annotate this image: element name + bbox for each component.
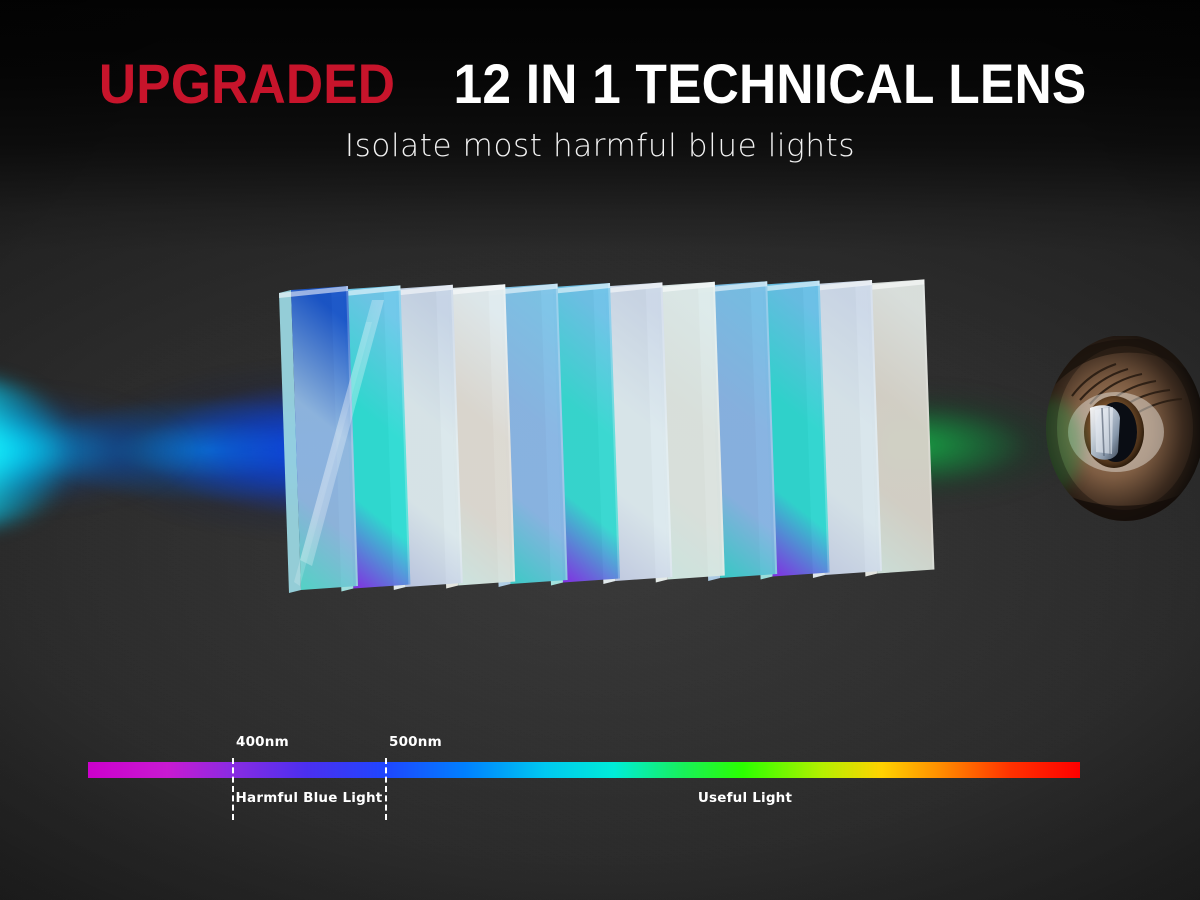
page-subtitle: Isolate most harmful blue lights — [0, 128, 1200, 164]
spectrum-band-label: Useful Light — [625, 790, 865, 806]
human-eye — [1046, 336, 1200, 522]
light-spectrum-bar — [88, 762, 1080, 778]
spectrum-band-label: Harmful Blue Light — [189, 790, 429, 806]
page-title: UPGRADED12 IN 1 TECHNICAL LENS — [0, 56, 1200, 112]
spectrum-tick-label: 400nm — [236, 734, 289, 750]
title-emphasis: UPGRADED — [99, 56, 395, 112]
spectrum-tick-line-500nm — [385, 758, 387, 820]
header: UPGRADED12 IN 1 TECHNICAL LENS Isolate m… — [0, 56, 1200, 164]
spectrum-tick-line-400nm — [232, 758, 234, 820]
infographic-canvas: UPGRADED12 IN 1 TECHNICAL LENS Isolate m… — [0, 0, 1200, 900]
eye-reflection — [1090, 405, 1120, 460]
spectrum-gradient — [88, 762, 1080, 778]
title-rest: 12 IN 1 TECHNICAL LENS — [454, 56, 1087, 112]
spectrum-tick-label: 500nm — [389, 734, 442, 750]
